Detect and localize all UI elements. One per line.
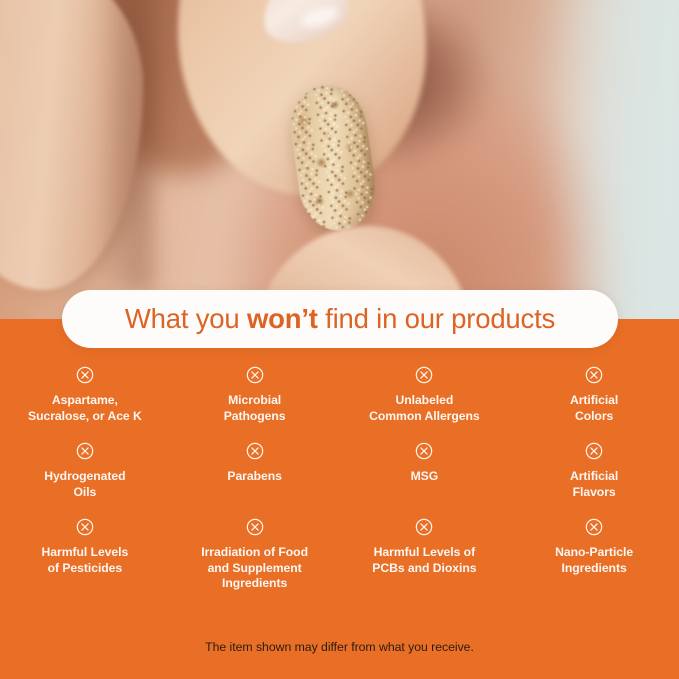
excluded-ingredient-item: Nano-Particle Ingredients: [509, 518, 679, 592]
x-circle-icon: [246, 366, 264, 384]
excluded-ingredient-item: Harmful Levels of PCBs and Dioxins: [340, 518, 510, 592]
excluded-ingredient-item: Aspartame, Sucralose, or Ace K: [0, 366, 170, 424]
excluded-ingredient-label: Aspartame, Sucralose, or Ace K: [28, 393, 142, 424]
excluded-ingredient-item: Microbial Pathogens: [170, 366, 340, 424]
excluded-ingredient-item: MSG: [340, 442, 510, 500]
excluded-ingredient-item: Irradiation of Food and Supplement Ingre…: [170, 518, 340, 592]
excluded-ingredient-item: Harmful Levels of Pesticides: [0, 518, 170, 592]
excluded-ingredient-label: MSG: [411, 469, 439, 485]
excluded-ingredient-label: Unlabeled Common Allergens: [369, 393, 479, 424]
excluded-ingredient-label: Harmful Levels of Pesticides: [42, 545, 129, 576]
x-circle-icon: [415, 442, 433, 460]
excluded-ingredient-label: Artificial Flavors: [570, 469, 618, 500]
excluded-ingredient-label: Parabens: [227, 469, 281, 485]
x-circle-icon: [585, 366, 603, 384]
x-circle-icon: [585, 442, 603, 460]
x-circle-icon: [246, 518, 264, 536]
title-emphasis: won’t: [247, 303, 318, 334]
x-circle-icon: [415, 366, 433, 384]
excluded-ingredient-label: Nano-Particle Ingredients: [555, 545, 633, 576]
thumb-shadow: [96, 0, 160, 290]
title-suffix: find in our products: [318, 303, 555, 334]
excluded-ingredients-grid: Aspartame, Sucralose, or Ace KMicrobial …: [0, 366, 679, 592]
photo-cool-highlight: [549, 0, 679, 319]
disclaimer-text: The item shown may differ from what you …: [0, 640, 679, 654]
excluded-ingredient-item: Artificial Colors: [509, 366, 679, 424]
excluded-ingredient-item: Hydrogenated Oils: [0, 442, 170, 500]
x-circle-icon: [585, 518, 603, 536]
excluded-ingredient-item: Unlabeled Common Allergens: [340, 366, 510, 424]
excluded-ingredient-label: Hydrogenated Oils: [44, 469, 125, 500]
title-prefix: What you: [125, 303, 247, 334]
x-circle-icon: [76, 366, 94, 384]
x-circle-icon: [76, 442, 94, 460]
excluded-ingredient-label: Irradiation of Food and Supplement Ingre…: [201, 545, 308, 592]
excluded-ingredient-item: Artificial Flavors: [509, 442, 679, 500]
page-title: What you won’t find in our products: [125, 303, 555, 335]
x-circle-icon: [415, 518, 433, 536]
excluded-ingredient-label: Artificial Colors: [570, 393, 618, 424]
excluded-ingredient-item: Parabens: [170, 442, 340, 500]
headline-card: What you won’t find in our products: [62, 290, 618, 348]
x-circle-icon: [246, 442, 264, 460]
excluded-ingredient-label: Harmful Levels of PCBs and Dioxins: [372, 545, 476, 576]
excluded-ingredient-label: Microbial Pathogens: [224, 393, 286, 424]
x-circle-icon: [76, 518, 94, 536]
product-photo: [0, 0, 679, 319]
product-infographic: What you won’t find in our products Aspa…: [0, 0, 679, 679]
